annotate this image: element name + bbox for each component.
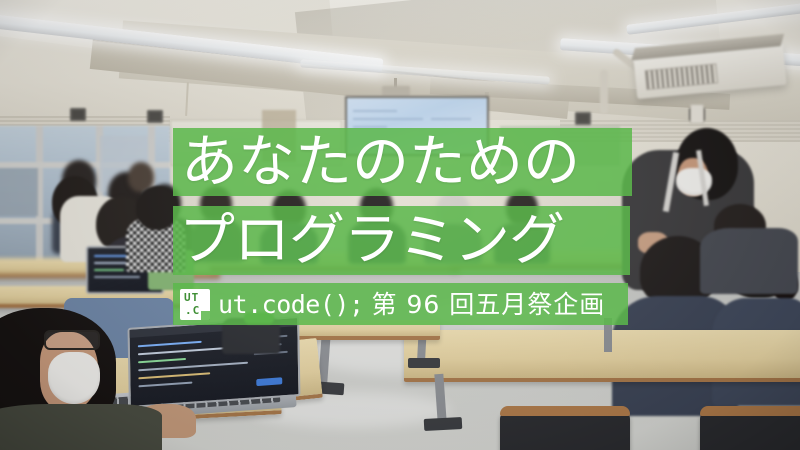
poster-image: あなたのための プログラミング UT .C ut.code(); 第 96 回五… [0,0,800,450]
eyeglasses-icon [44,330,100,350]
event-name: 第 96 回五月祭企画 [372,292,606,317]
screen-content-line [353,110,397,112]
code-line [138,372,210,379]
chair [500,412,630,450]
title-line-1: あなたのための [173,134,580,191]
title-band-2: プログラミング [173,206,630,275]
code-line [138,358,186,363]
logo-top-text: UT [184,291,199,304]
title-band-1: あなたのための [173,128,632,196]
ac-pipe [600,70,608,114]
screen-content-line [431,118,471,120]
chair [700,412,800,450]
wall-speaker-icon [70,108,86,121]
code-line [94,276,140,278]
wall-switch-box [690,104,704,124]
title-line-2: プログラミング [173,213,564,269]
wall-speaker-icon [147,110,163,123]
ceiling-projector [382,86,410,96]
chair-frame [700,406,800,416]
desk [404,330,800,382]
utcode-logo-icon: UT .C [180,289,210,320]
logo-notch [201,311,210,320]
subtitle-row: UT .C ut.code(); 第 96 回五月祭企画 [173,289,605,320]
screen-content-line [353,118,423,120]
desk-foot [408,358,440,368]
editor-button [256,377,282,386]
student-head [136,186,178,230]
student-body [700,228,798,294]
code-line [94,269,124,271]
face-mask-icon [48,352,100,404]
ac-grill [645,63,719,90]
outside-building [0,168,38,216]
subtitle-band: UT .C ut.code(); 第 96 回五月祭企画 [173,283,628,325]
code-line [138,362,248,372]
desk-foot [424,417,463,431]
chair-frame [500,406,630,416]
wall-speaker-icon [575,112,591,125]
code-line [138,347,234,356]
brand-name: ut.code(); [218,292,364,317]
logo-bottom-text: .C [185,304,200,317]
hanging-wire [185,82,189,116]
foreground-student-shirt [0,404,162,450]
code-line [138,341,202,347]
code-line [138,382,192,388]
